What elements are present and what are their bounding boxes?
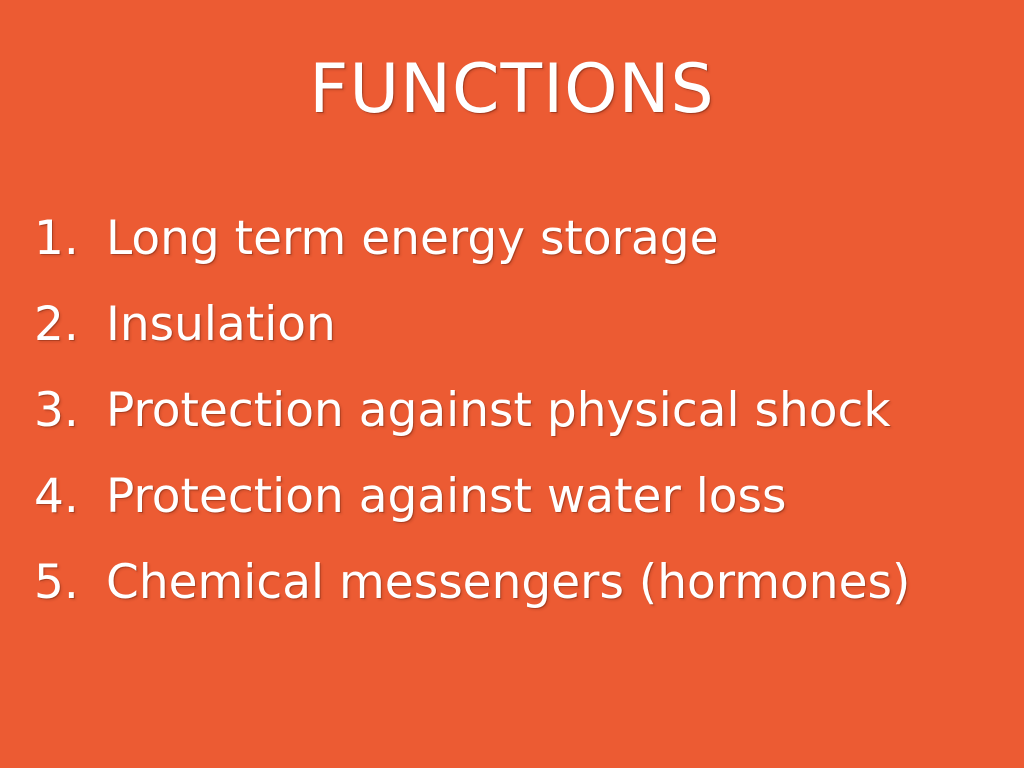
functions-list: 1. Long term energy storage 2. Insulatio… bbox=[34, 196, 1014, 626]
list-item-number: 2. bbox=[34, 282, 106, 368]
list-item: 3. Protection against physical shock bbox=[34, 368, 1014, 454]
list-item-number: 5. bbox=[34, 540, 106, 626]
list-item-label: Protection against physical shock bbox=[106, 368, 891, 454]
list-item-number: 1. bbox=[34, 196, 106, 282]
list-item-number: 4. bbox=[34, 454, 106, 540]
list-item-number: 3. bbox=[34, 368, 106, 454]
list-item-label: Protection against water loss bbox=[106, 454, 787, 540]
list-item: 4. Protection against water loss bbox=[34, 454, 1014, 540]
list-item: 1. Long term energy storage bbox=[34, 196, 1014, 282]
list-item: 2. Insulation bbox=[34, 282, 1014, 368]
list-item-label: Long term energy storage bbox=[106, 196, 719, 282]
list-item: 5. Chemical messengers (hormones) bbox=[34, 540, 1014, 626]
list-item-label: Insulation bbox=[106, 282, 336, 368]
list-item-label: Chemical messengers (hormones) bbox=[106, 540, 910, 626]
page-title: FUNCTIONS bbox=[0, 52, 1024, 128]
slide-canvas: FUNCTIONS 1. Long term energy storage 2.… bbox=[0, 0, 1024, 768]
